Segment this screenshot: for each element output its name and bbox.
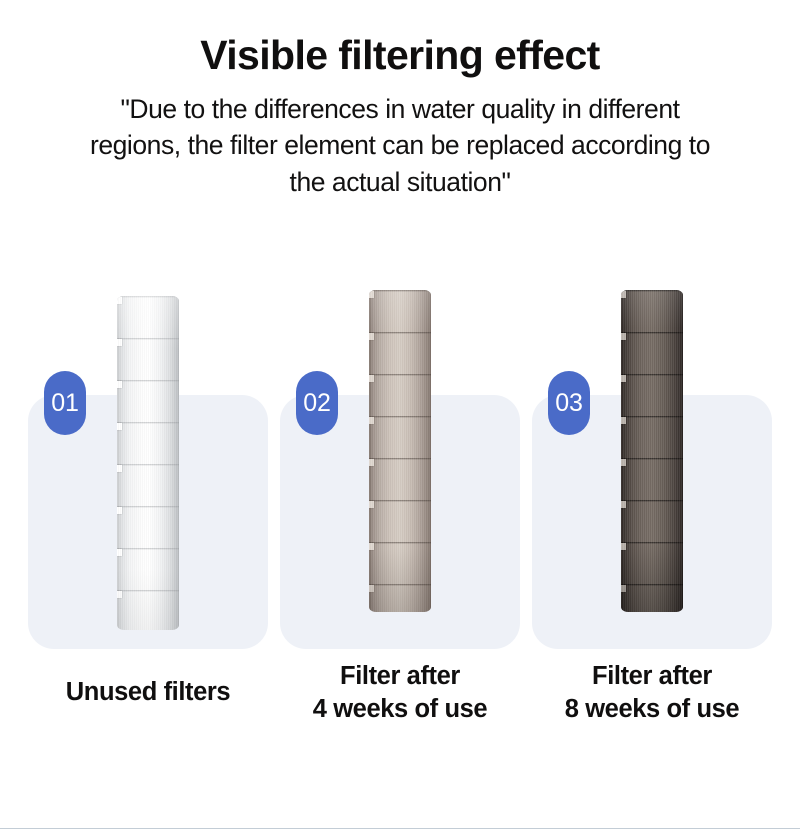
step-badge-02: 02 [296, 371, 338, 435]
filter-caption-03-line-1: Filter after [526, 660, 778, 693]
subtitle-line-1: "Due to the differences in water quality… [50, 91, 750, 127]
filter-rib-segment [621, 290, 683, 332]
filter-image-01 [22, 278, 274, 678]
filter-comparison: 01 Unused filters 02 Filter after 4 week… [0, 278, 800, 748]
filter-rib-segment [117, 506, 179, 548]
filter-rib-segment [117, 422, 179, 464]
page-title: Visible filtering effect [0, 34, 800, 77]
filter-rib-segment [117, 590, 179, 630]
filter-rib-segment [117, 380, 179, 422]
filter-rib-segment [621, 332, 683, 374]
filter-rib-segment [369, 584, 431, 612]
filter-rib-segment [369, 374, 431, 416]
comparison-item-03: 03 Filter after 8 weeks of use [526, 278, 778, 748]
filter-rib-segment [621, 374, 683, 416]
filter-rib-segment [621, 500, 683, 542]
step-badge-01: 01 [44, 371, 86, 435]
filter-rib-segment [369, 416, 431, 458]
filter-rib-segment [369, 542, 431, 584]
filter-caption-02-line-1: Filter after [274, 660, 526, 693]
filter-rib-segment [117, 296, 179, 338]
filter-rib-segment [117, 338, 179, 380]
filter-caption-03: Filter after 8 weeks of use [526, 660, 778, 725]
step-badge-03: 03 [548, 371, 590, 435]
filter-rib-segment [117, 464, 179, 506]
filter-rib-segment [369, 458, 431, 500]
filter-caption-01-line-1: Unused filters [22, 676, 274, 709]
filter-rib-segment [369, 290, 431, 332]
filter-rib-segment [369, 500, 431, 542]
comparison-item-01: 01 Unused filters [22, 278, 274, 748]
filter-rib-segment [369, 332, 431, 374]
comparison-item-02: 02 Filter after 4 weeks of use [274, 278, 526, 748]
filter-rib-segment [117, 548, 179, 590]
filter-image-02 [274, 278, 526, 678]
filter-caption-02: Filter after 4 weeks of use [274, 660, 526, 725]
filter-rib-segment [621, 416, 683, 458]
filter-rib-segment [621, 584, 683, 612]
subtitle-line-3: the actual situation" [50, 164, 750, 200]
filter-image-03 [526, 278, 778, 678]
subtitle-line-2: regions, the filter element can be repla… [50, 127, 750, 163]
header: Visible filtering effect "Due to the dif… [0, 0, 800, 200]
filter-caption-02-line-2: 4 weeks of use [274, 693, 526, 726]
filter-caption-01: Unused filters [22, 676, 274, 709]
subtitle: "Due to the differences in water quality… [50, 91, 750, 200]
filter-rib-segment [621, 458, 683, 500]
filter-rib-segment [621, 542, 683, 584]
filter-caption-03-line-2: 8 weeks of use [526, 693, 778, 726]
